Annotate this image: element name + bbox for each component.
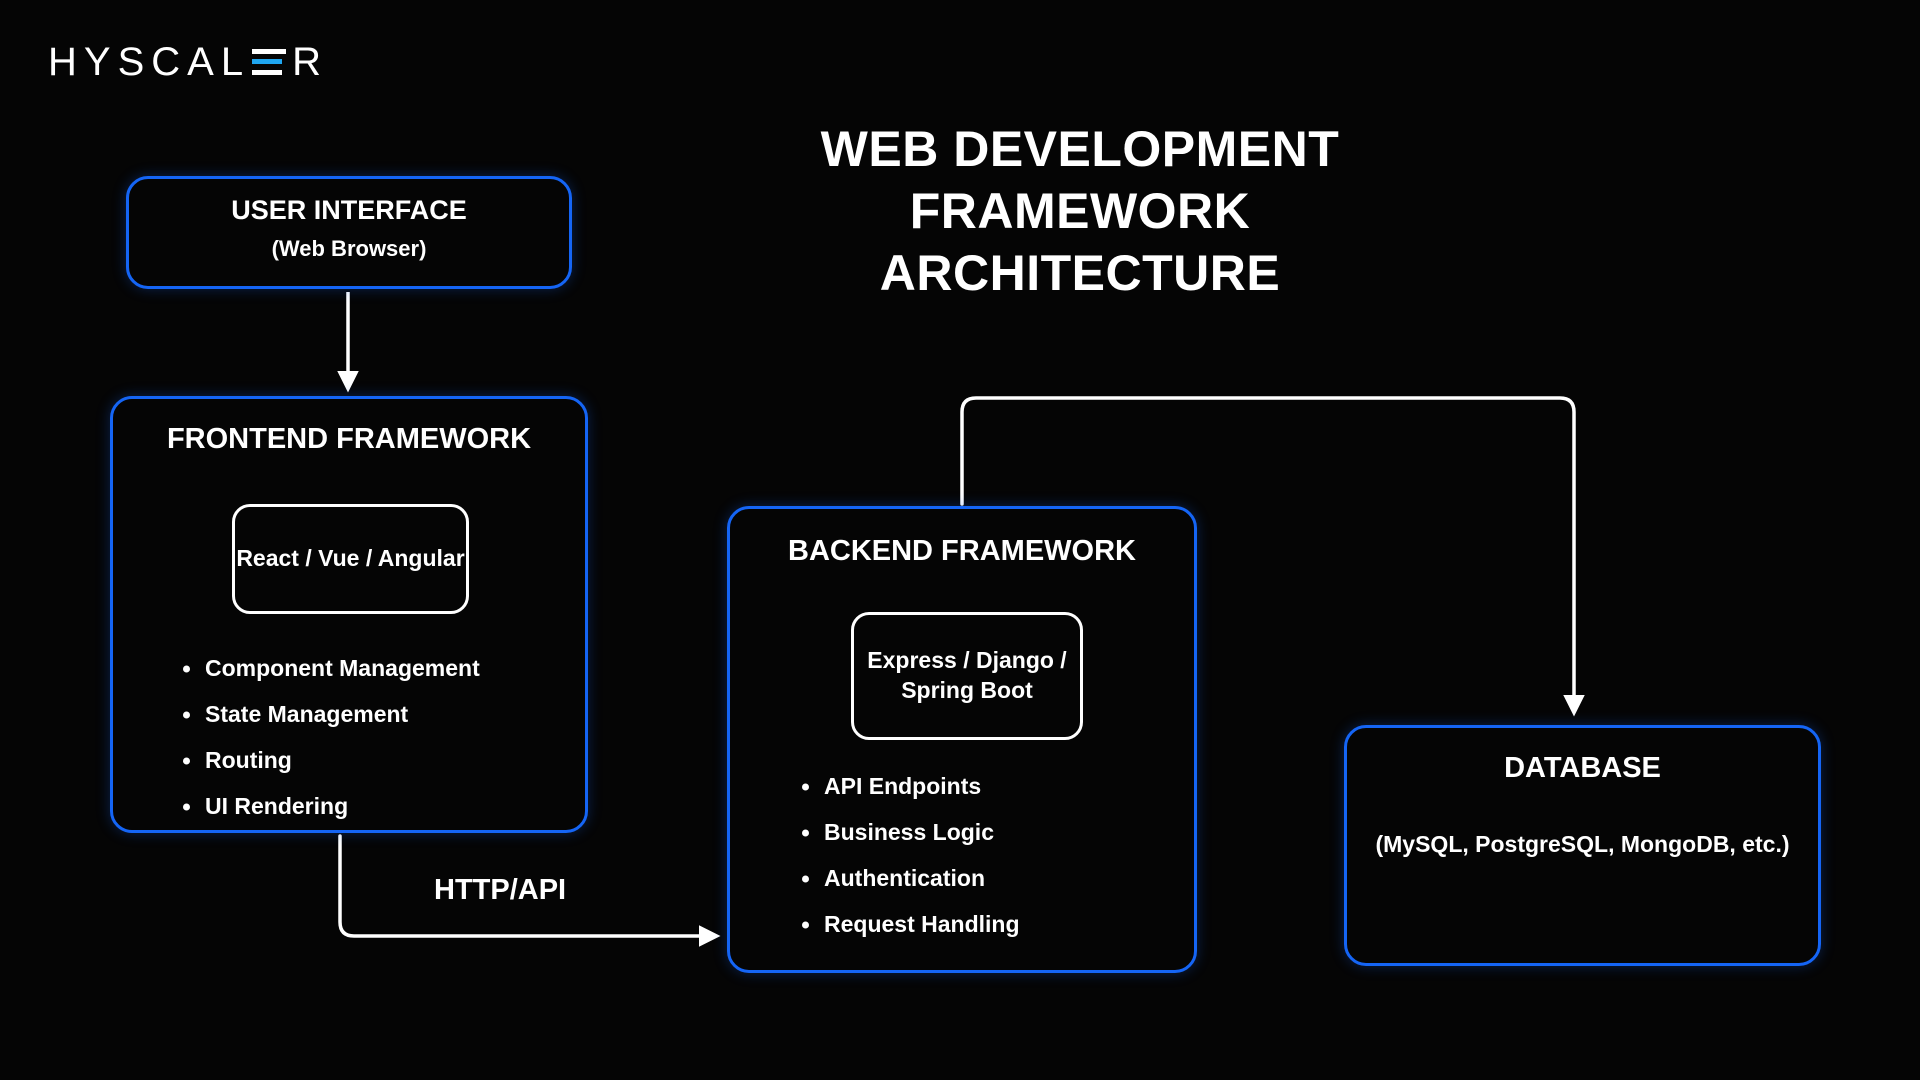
logo-e-bar-middle-accent <box>252 59 282 64</box>
node-user-interface-subtitle: (Web Browser) <box>129 236 569 262</box>
node-database-title: DATABASE <box>1347 752 1818 785</box>
frontend-stack-pill: React / Vue / Angular <box>232 504 469 614</box>
list-item: Business Logic <box>798 821 1020 844</box>
logo-e-bar-top <box>252 49 286 54</box>
logo-e-bar-bottom <box>252 70 282 75</box>
frontend-feature-list: Component Management State Management Ro… <box>179 657 480 841</box>
diagram-canvas: HYSCAL R WEB DEVELOPMENT FRAMEWORK ARCHI… <box>0 0 1920 1080</box>
logo-e-glyph-icon <box>252 47 286 77</box>
node-database-subtitle: (MySQL, PostgreSQL, MongoDB, etc.) <box>1347 829 1818 860</box>
list-item: UI Rendering <box>179 795 480 818</box>
node-user-interface[interactable]: USER INTERFACE (Web Browser) <box>126 176 572 289</box>
page-title: WEB DEVELOPMENT FRAMEWORK ARCHITECTURE <box>660 118 1500 304</box>
logo-wordmark-part-one: HYSCAL <box>48 42 250 82</box>
list-item: Routing <box>179 749 480 772</box>
list-item: State Management <box>179 703 480 726</box>
page-title-line-2: ARCHITECTURE <box>660 242 1500 304</box>
list-item: Component Management <box>179 657 480 680</box>
node-database[interactable]: DATABASE (MySQL, PostgreSQL, MongoDB, et… <box>1344 725 1821 966</box>
hyscaler-logo: HYSCAL R <box>48 40 328 84</box>
list-item: Request Handling <box>798 913 1020 936</box>
page-title-line-1: WEB DEVELOPMENT FRAMEWORK <box>660 118 1500 242</box>
backend-stack-pill: Express / Django / Spring Boot <box>851 612 1083 740</box>
node-frontend-framework-title: FRONTEND FRAMEWORK <box>113 423 585 456</box>
connector-label-http-api: HTTP/API <box>434 874 566 907</box>
list-item: API Endpoints <box>798 775 1020 798</box>
logo-wordmark-part-two: R <box>292 42 328 82</box>
node-frontend-framework[interactable]: FRONTEND FRAMEWORK React / Vue / Angular… <box>110 396 588 833</box>
node-backend-framework-title: BACKEND FRAMEWORK <box>730 535 1194 568</box>
node-backend-framework[interactable]: BACKEND FRAMEWORK Express / Django / Spr… <box>727 506 1197 973</box>
backend-feature-list: API Endpoints Business Logic Authenticat… <box>798 775 1020 959</box>
node-user-interface-title: USER INTERFACE <box>129 195 569 226</box>
list-item: Authentication <box>798 867 1020 890</box>
